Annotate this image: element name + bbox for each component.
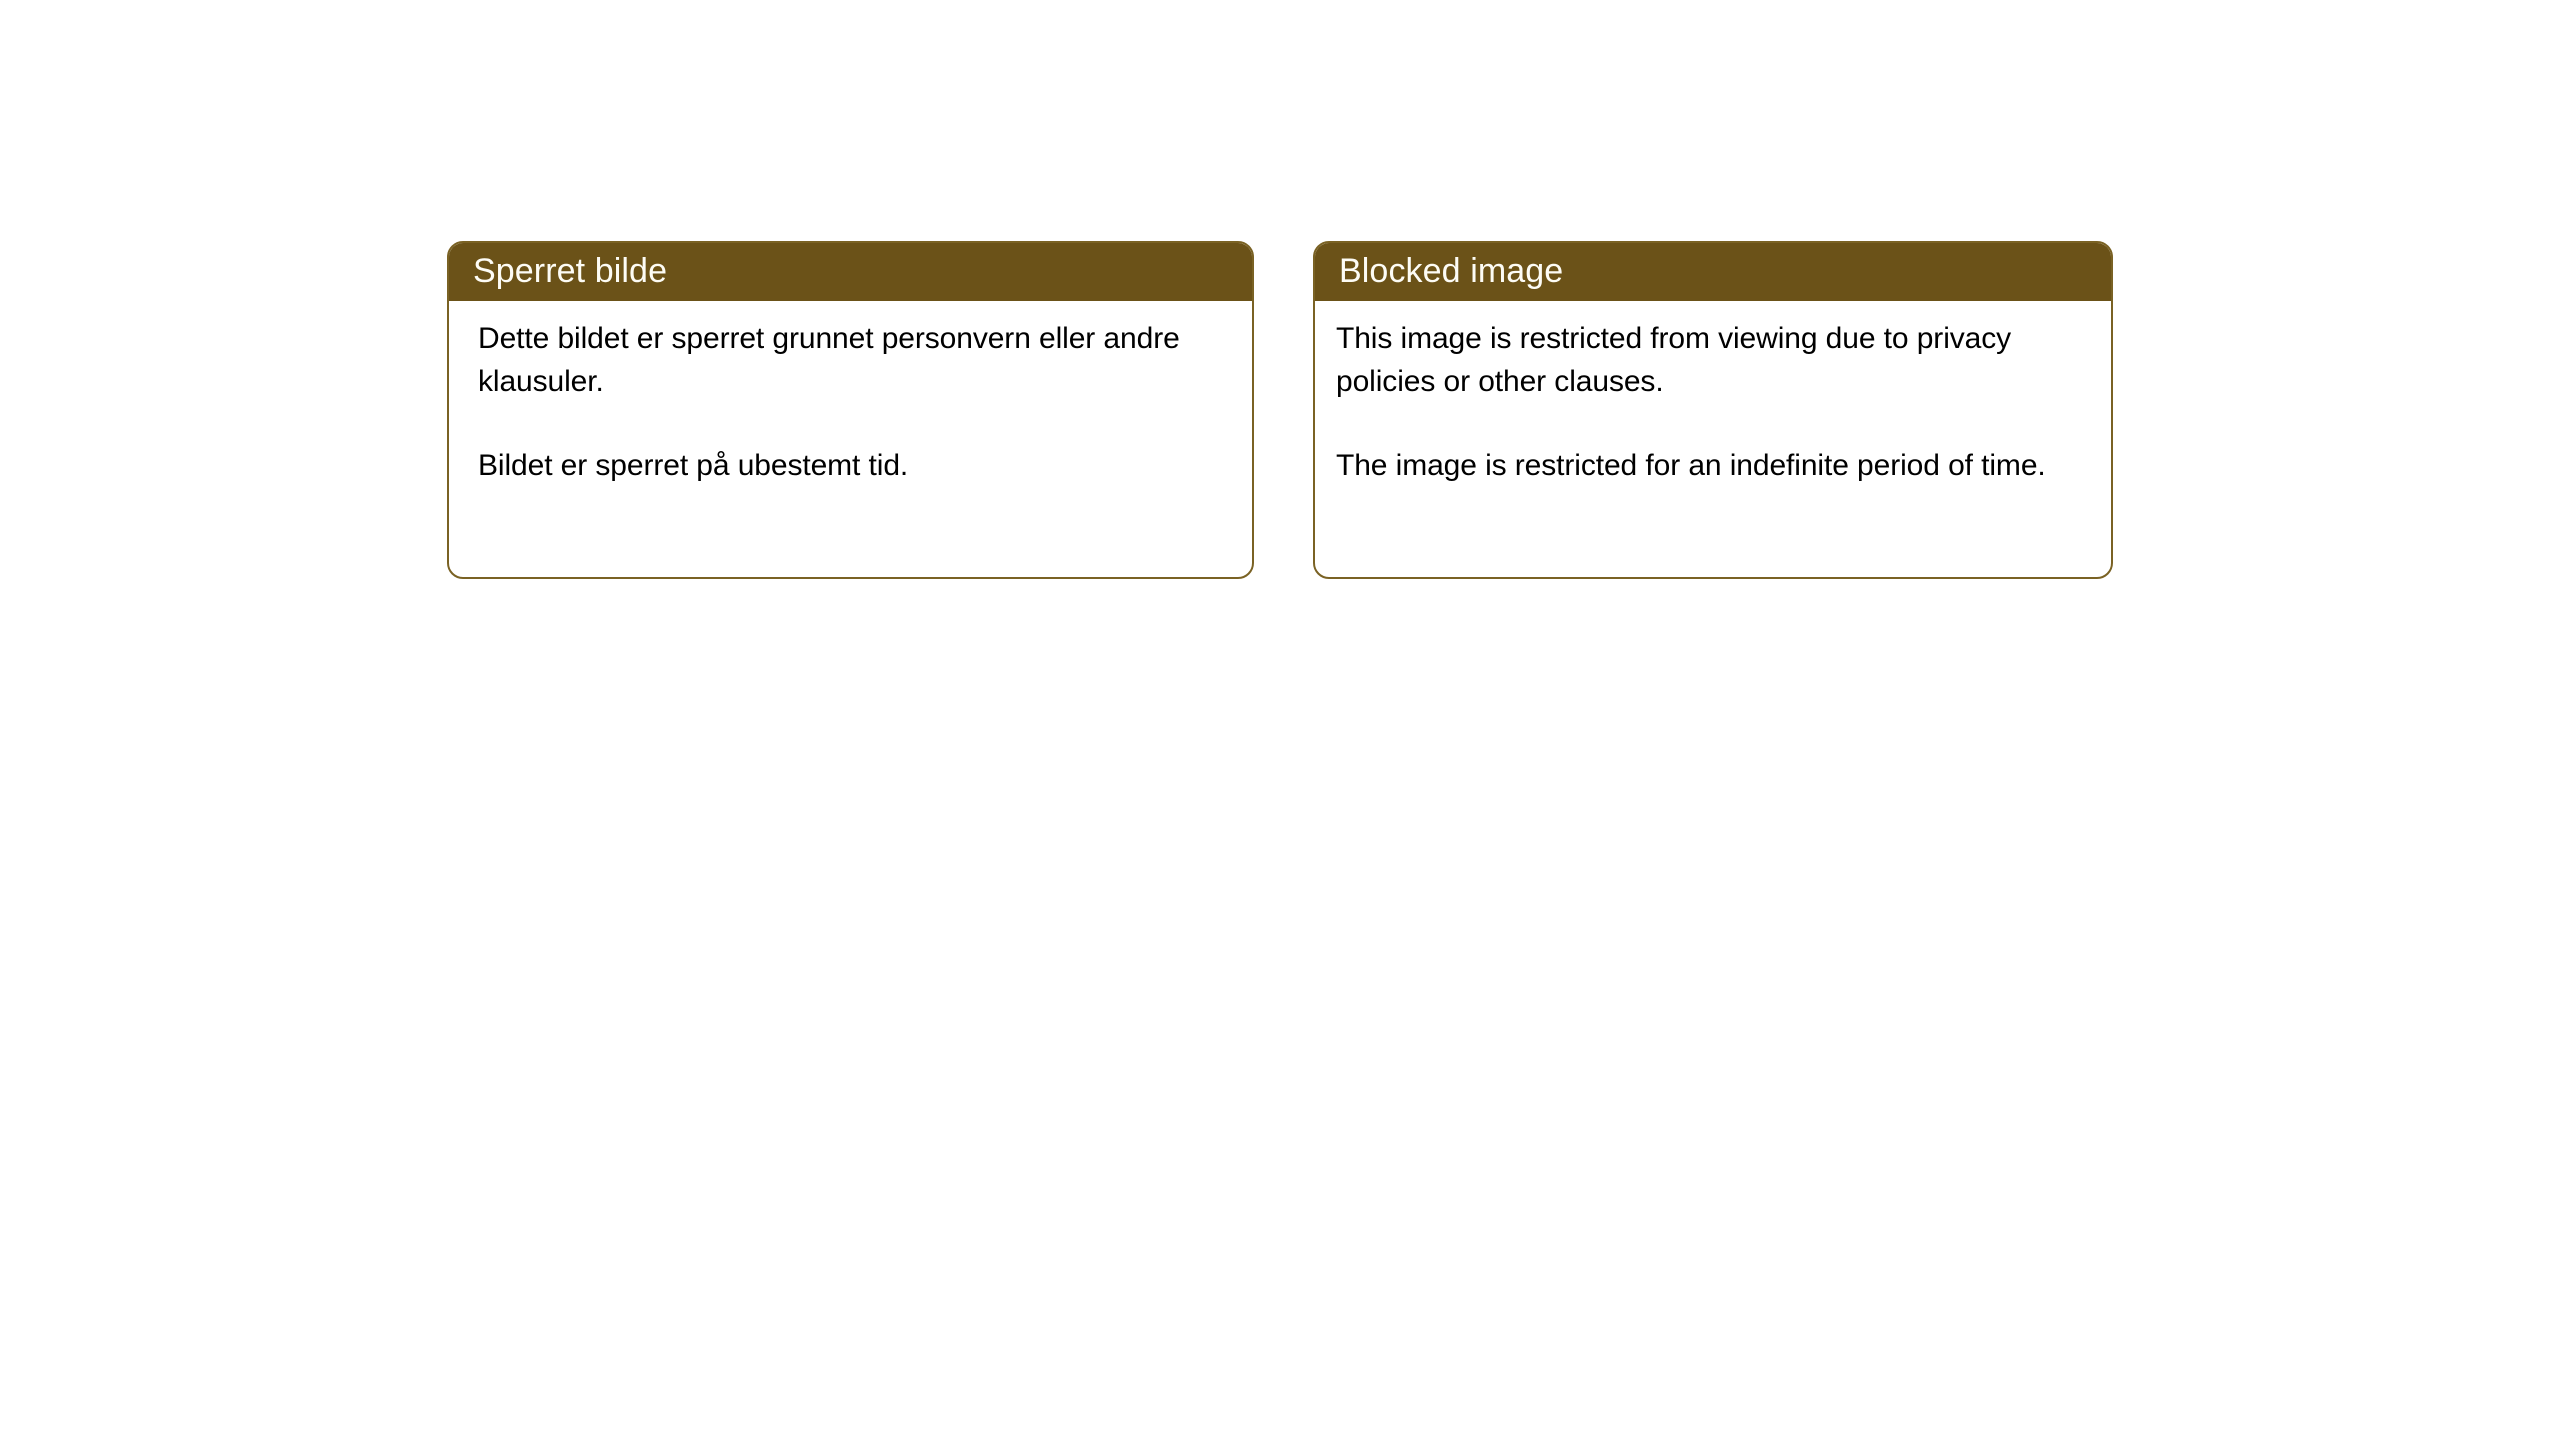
blocked-image-notice-card-english: Blocked image This image is restricted f… [1313,241,2113,579]
card-body-english: This image is restricted from viewing du… [1315,301,2111,487]
notice-paragraph-duration-norwegian: Bildet er sperret på ubestemt tid. [478,444,1228,487]
card-body-norwegian: Dette bildet er sperret grunnet personve… [449,301,1252,487]
notice-paragraph-duration-english: The image is restricted for an indefinit… [1336,444,2087,487]
page-canvas: Sperret bilde Dette bildet er sperret gr… [0,0,2560,1440]
notice-paragraph-reason-norwegian: Dette bildet er sperret grunnet personve… [478,317,1228,403]
card-title-english: Blocked image [1339,253,1563,289]
blocked-image-notice-card-norwegian: Sperret bilde Dette bildet er sperret gr… [447,241,1254,579]
card-header-norwegian: Sperret bilde [447,241,1254,301]
card-header-english: Blocked image [1313,241,2113,301]
card-title-norwegian: Sperret bilde [473,253,667,289]
notice-paragraph-reason-english: This image is restricted from viewing du… [1336,317,2087,403]
